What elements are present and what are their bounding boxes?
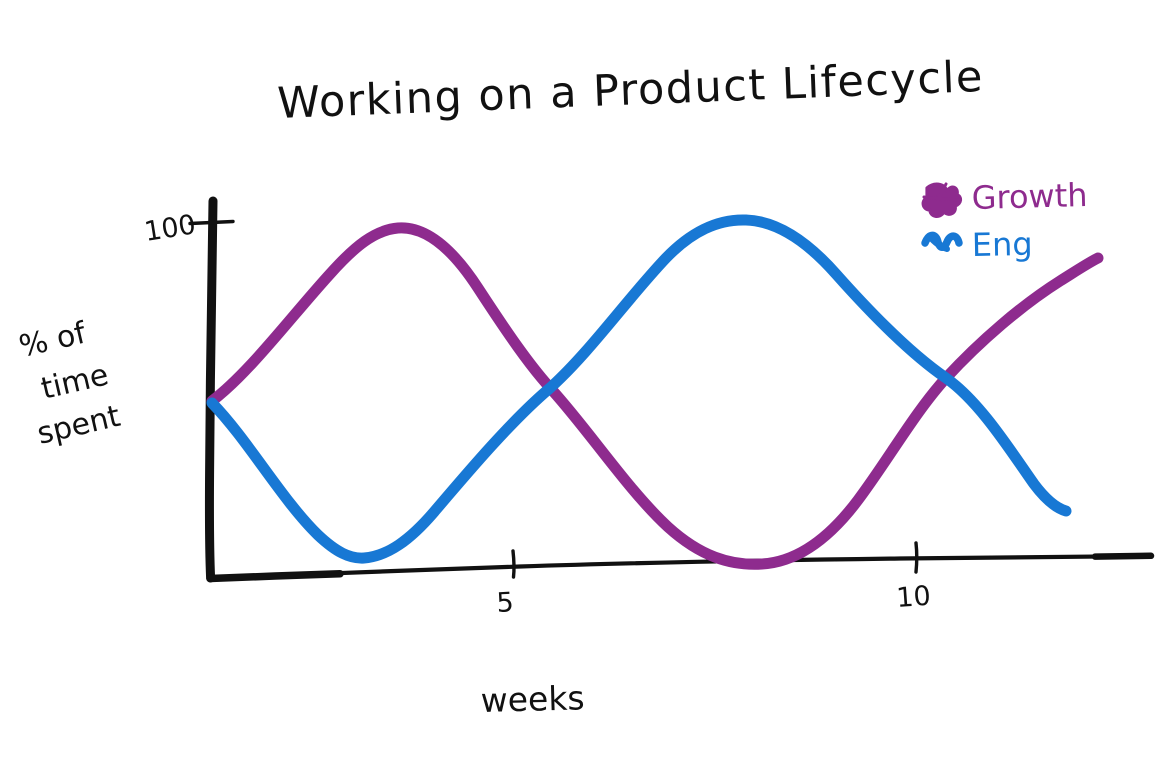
- x-axis-title: weeks: [480, 678, 585, 720]
- chart-legend: Growth Eng: [923, 176, 1088, 264]
- legend-item-growth[interactable]: Growth: [923, 176, 1088, 217]
- x-tick-10: [916, 543, 917, 572]
- x-tick-5: [513, 551, 514, 577]
- x-axis-base-thick: [210, 574, 340, 579]
- y-axis-title-line3: spent: [34, 399, 124, 452]
- y-axis-title: % of time spent: [16, 315, 124, 451]
- tick-labels-group: 100 5 10: [142, 209, 932, 619]
- y-tick-100: [190, 222, 233, 224]
- x-tick-label-5: 5: [496, 587, 515, 619]
- y-axis-line: [209, 201, 213, 578]
- legend-label-eng: Eng: [971, 225, 1032, 264]
- page-title-text: Working on a Product Lifecycle: [277, 52, 985, 129]
- legend-item-eng[interactable]: Eng: [925, 225, 1033, 264]
- y-tick-label-100: 100: [142, 209, 198, 248]
- page-title: Working on a Product Lifecycle: [277, 52, 985, 129]
- legend-label-growth: Growth: [971, 176, 1088, 217]
- y-axis-title-line1: % of: [16, 315, 91, 364]
- x-axis-tip-thick: [1095, 556, 1151, 557]
- x-tick-label-10: 10: [895, 581, 931, 614]
- whiteboard-canvas: Working on a Product Lifecycle 100 5 10: [0, 0, 1164, 760]
- y-axis-title-line2: time: [38, 357, 112, 406]
- hand-drawn-chart: Working on a Product Lifecycle 100 5 10: [0, 0, 1164, 760]
- squiggle-marker-icon: [925, 235, 959, 249]
- blob-marker-icon: [923, 184, 960, 216]
